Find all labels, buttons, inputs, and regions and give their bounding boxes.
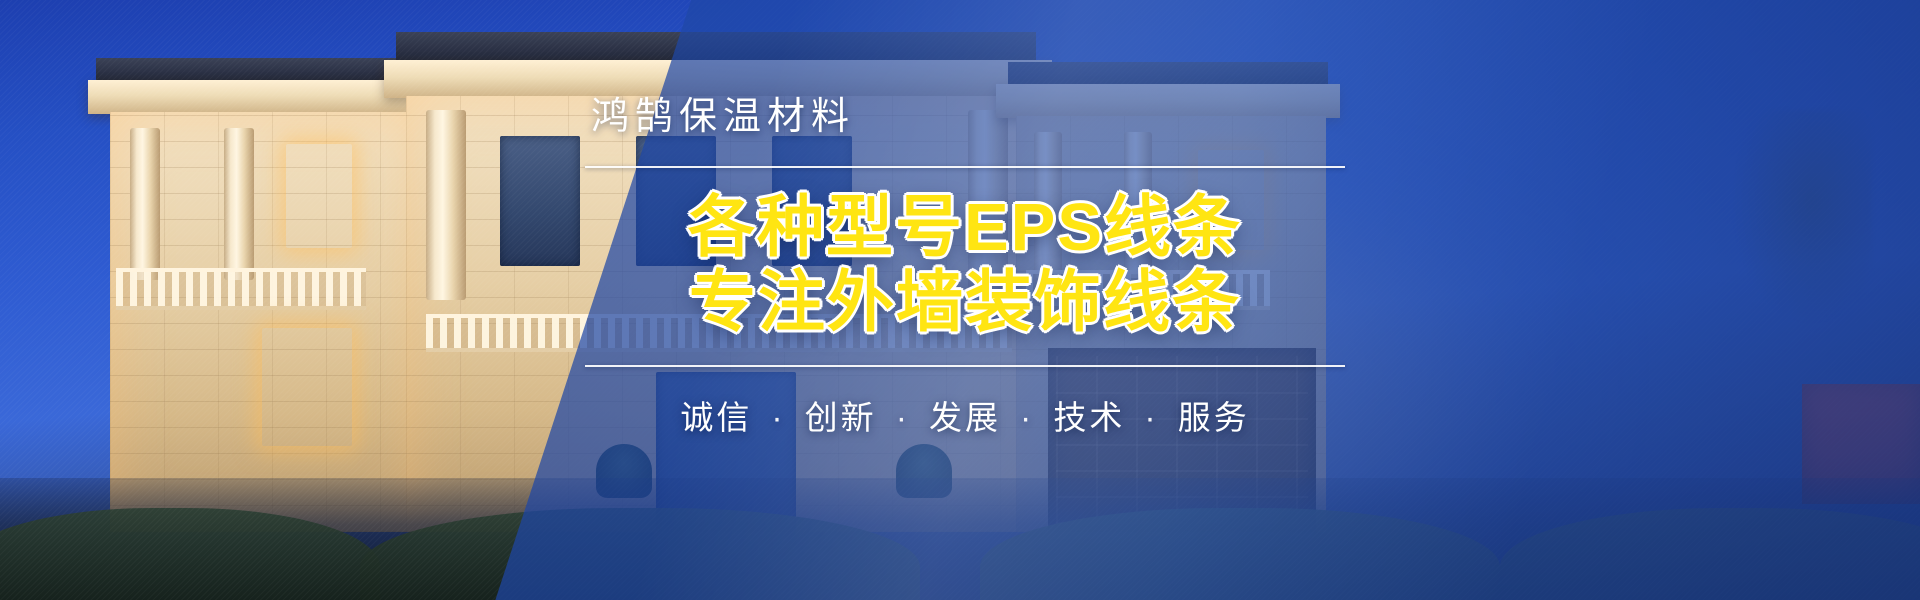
divider-bottom <box>585 365 1345 367</box>
headline-line-1: 各种型号EPS线条 <box>585 190 1345 266</box>
balustrade-left <box>116 268 366 310</box>
tagline-separator-2: · <box>889 399 917 436</box>
divider-top <box>585 166 1345 168</box>
tagline-item-3: 发展 <box>929 399 1001 436</box>
tagline-item-1: 诚信 <box>680 399 752 436</box>
hero-banner: 鸿鹄保温材料 各种型号EPS线条 专注外墙装饰线条 诚信 · 创新 · 发展 ·… <box>0 0 1920 600</box>
window-l2 <box>262 328 352 446</box>
column-l1 <box>130 128 160 280</box>
tagline: 诚信 · 创新 · 发展 · 技术 · 服务 <box>585 391 1345 439</box>
brand-name: 鸿鹄保温材料 <box>585 96 1345 140</box>
tagline-separator-3: · <box>1013 399 1041 436</box>
window-l1 <box>286 144 352 248</box>
window-c1 <box>500 136 580 266</box>
headline-line-2: 专注外墙装饰线条 <box>585 265 1345 341</box>
roof-left <box>96 58 426 82</box>
column-l2 <box>224 128 254 280</box>
tagline-separator-4: · <box>1138 399 1166 436</box>
tagline-separator-1: · <box>764 399 792 436</box>
tagline-item-4: 技术 <box>1053 399 1125 436</box>
banner-copy: 鸿鹄保温材料 各种型号EPS线条 专注外墙装饰线条 诚信 · 创新 · 发展 ·… <box>585 96 1345 439</box>
tagline-item-5: 服务 <box>1178 399 1250 436</box>
tagline-item-2: 创新 <box>805 399 877 436</box>
column-c1 <box>426 110 466 300</box>
